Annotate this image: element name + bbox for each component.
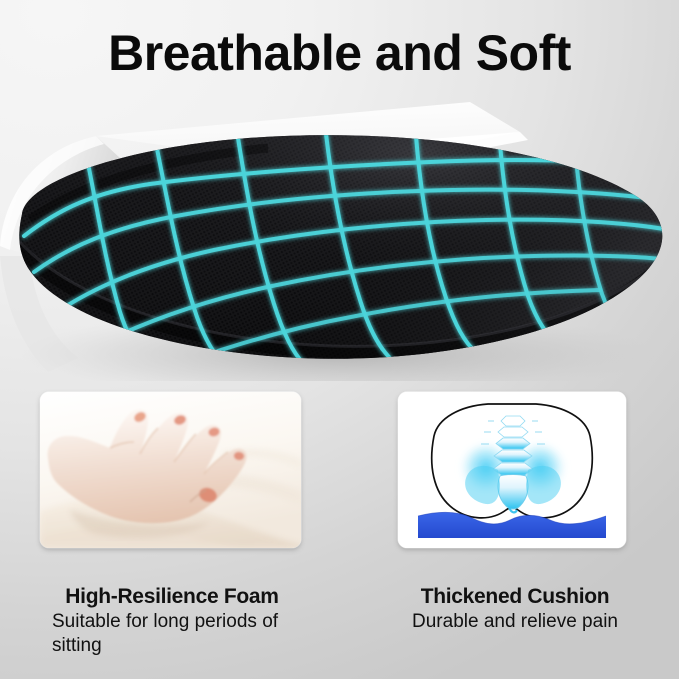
feature-title-foam: High-Resilience Foam	[22, 583, 322, 610]
feature-subtitle-cushion: Durable and relieve pain	[370, 610, 660, 634]
pelvis-on-cushion-diagram	[398, 392, 626, 548]
feature-subtitle-foam: Suitable for long periods of sitting	[22, 610, 322, 658]
hero-product-image	[0, 96, 679, 381]
caption-thickened-cushion: Thickened Cushion Durable and relieve pa…	[370, 583, 660, 634]
feature-title-cushion: Thickened Cushion	[370, 583, 660, 610]
page-title: Breathable and Soft	[0, 24, 679, 82]
product-feature-graphic: Breathable and Soft	[0, 0, 679, 679]
caption-high-resilience-foam: High-Resilience Foam Suitable for long p…	[22, 583, 322, 658]
hand-pressing-foam-photo	[40, 392, 301, 548]
feature-card-high-resilience-foam	[40, 392, 301, 548]
feature-card-thickened-cushion	[398, 392, 626, 548]
